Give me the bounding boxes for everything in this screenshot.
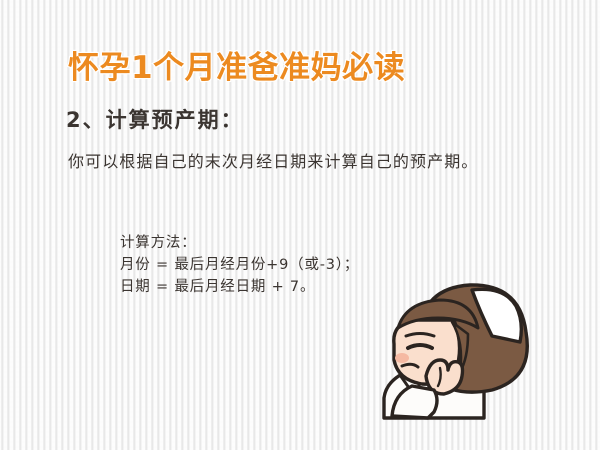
body-paragraph: 你可以根据自己的末次月经日期来计算自己的预产期。	[68, 148, 478, 172]
method-line-month: 月份 = 最后月经月份+9（或-3）；	[120, 254, 359, 276]
section-heading: 2、计算预产期：	[66, 104, 244, 134]
page-title: 怀孕1个月准爸准妈必读	[68, 42, 405, 87]
method-block: 计算方法： 月份 = 最后月经月份+9（或-3）； 日期 = 最后月经日期 + …	[120, 232, 359, 298]
method-line-day: 日期 = 最后月经日期 + 7。	[120, 276, 359, 298]
nurse-illustration	[368, 272, 600, 450]
nurse-blush	[395, 353, 409, 363]
slide-canvas: 怀孕1个月准爸准妈必读 2、计算预产期： 你可以根据自己的末次月经日期来计算自己…	[0, 0, 600, 450]
method-label: 计算方法：	[120, 232, 359, 254]
